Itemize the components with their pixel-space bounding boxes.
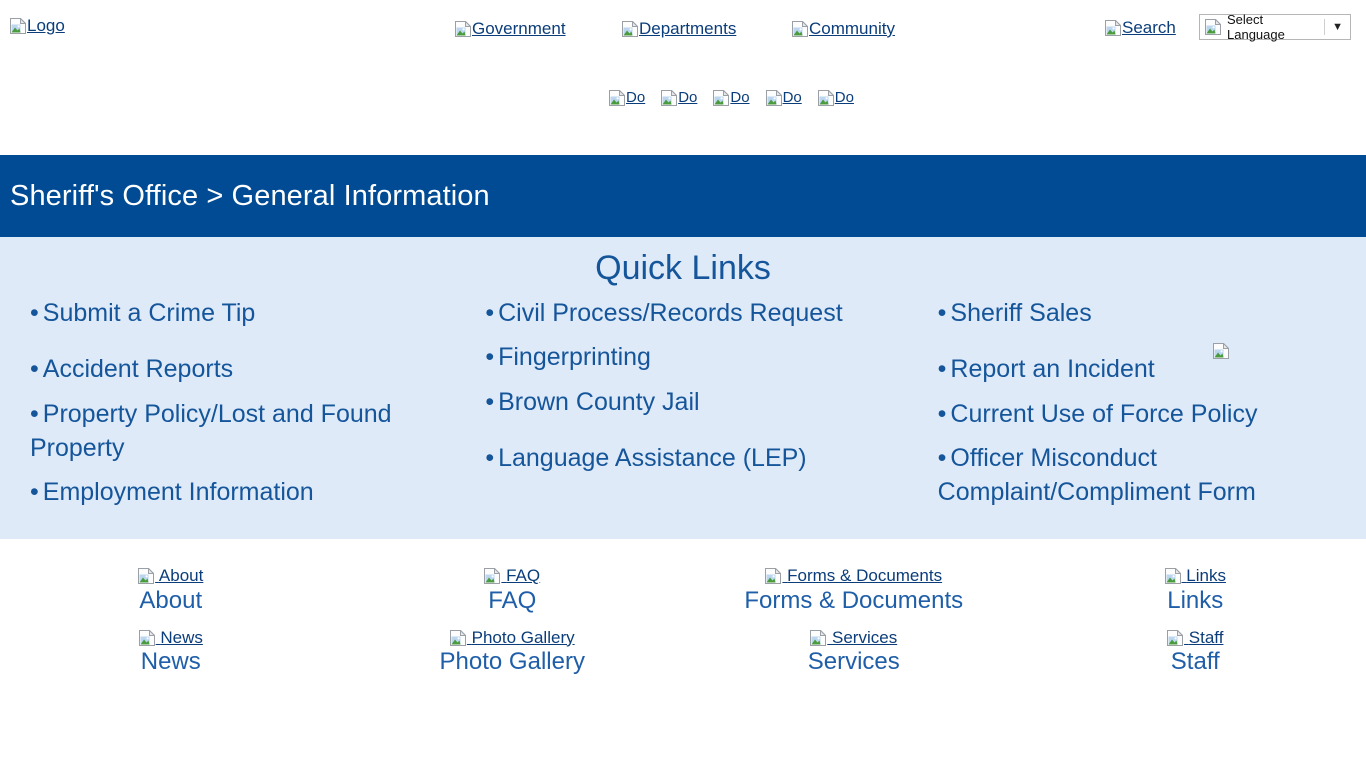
- page-title: Sheriff's Office > General Information: [0, 180, 490, 213]
- title-bar-broken-image-icon: [1213, 343, 1229, 359]
- secondary-icon-label: Do: [678, 89, 697, 106]
- quick-link-item[interactable]: •Property Policy/Lost and Found Property: [30, 397, 437, 466]
- chevron-down-icon[interactable]: ▼: [1332, 21, 1347, 33]
- broken-image-icon: [765, 568, 781, 584]
- secondary-icon-item-4[interactable]: Do: [766, 89, 802, 106]
- quick-link-label: Submit a Crime Tip: [43, 299, 256, 327]
- quick-link-item[interactable]: •Sheriff Sales: [938, 296, 1348, 330]
- quick-links-columns: •Submit a Crime Tip •Accident Reports •P…: [0, 296, 1366, 519]
- tile-alt-text: Services: [832, 628, 897, 647]
- quick-links-heading: Quick Links: [0, 249, 1366, 288]
- quick-link-label: Officer Misconduct Complaint/Compliment …: [938, 444, 1256, 506]
- quick-link-label: Property Policy/Lost and Found Property: [30, 400, 392, 462]
- bullet-icon: •: [30, 355, 39, 383]
- tile-caption: Services: [683, 648, 1025, 676]
- divider: [1324, 19, 1325, 35]
- bullet-icon: •: [485, 388, 494, 416]
- tile-caption: News: [0, 648, 342, 676]
- broken-image-icon: [818, 90, 834, 106]
- broken-image-icon: [661, 90, 677, 106]
- quick-links-column-3: •Sheriff Sales •Report an Incident •Curr…: [911, 296, 1366, 519]
- tile-alt-text: News: [160, 628, 203, 647]
- broken-image-icon: [766, 90, 782, 106]
- tile-photo-gallery[interactable]: Photo Gallery Photo Gallery: [342, 615, 684, 676]
- quick-link-item[interactable]: •Officer Misconduct Complaint/Compliment…: [938, 441, 1348, 510]
- secondary-icon-label: Do: [835, 89, 854, 106]
- search-link[interactable]: Search: [1105, 18, 1176, 38]
- quick-link-item[interactable]: •Fingerprinting: [485, 340, 892, 374]
- tile-caption: Links: [1025, 587, 1366, 615]
- quick-link-label: Report an Incident: [950, 355, 1154, 383]
- bullet-icon: •: [30, 478, 39, 506]
- secondary-icon-label: Do: [783, 89, 802, 106]
- bullet-icon: •: [30, 299, 39, 327]
- bullet-icon: •: [485, 444, 494, 472]
- quick-link-item[interactable]: •Accident Reports: [30, 352, 437, 386]
- tile-image-link[interactable]: Staff: [1025, 629, 1366, 648]
- broken-image-icon: [1167, 630, 1183, 646]
- tile-faq[interactable]: FAQ FAQ: [342, 553, 684, 614]
- quick-link-item[interactable]: •Report an Incident: [938, 352, 1348, 386]
- tile-image-link[interactable]: About: [0, 567, 342, 586]
- quick-link-item[interactable]: •Language Assistance (LEP): [485, 441, 892, 475]
- tile-caption: About: [0, 587, 342, 615]
- broken-image-icon: [609, 90, 625, 106]
- nav-item-departments[interactable]: Departments: [622, 19, 736, 39]
- broken-image-icon: [10, 18, 26, 34]
- tile-image-link[interactable]: FAQ: [342, 567, 684, 586]
- tile-image-link[interactable]: News: [0, 629, 342, 648]
- tile-about[interactable]: About About: [0, 553, 342, 614]
- broken-image-icon: [622, 21, 638, 37]
- broken-image-icon: [138, 568, 154, 584]
- tile-alt-text: Forms & Documents: [787, 566, 942, 585]
- language-selected-value: Select Language: [1227, 12, 1322, 42]
- tile-image-link[interactable]: Links: [1025, 567, 1366, 586]
- quick-link-label: Current Use of Force Policy: [950, 400, 1257, 428]
- secondary-icon-item-1[interactable]: Do: [609, 89, 645, 106]
- nav-item-label: Departments: [639, 19, 736, 39]
- bullet-icon: •: [938, 355, 947, 383]
- tile-row: About About FAQ FAQ: [0, 553, 1366, 614]
- quick-link-item[interactable]: •Current Use of Force Policy: [938, 397, 1348, 431]
- broken-image-icon: [713, 90, 729, 106]
- tile-services[interactable]: Services Services: [683, 615, 1025, 676]
- nav-item-label: Community: [809, 19, 895, 39]
- tile-grid: About About FAQ FAQ: [0, 539, 1366, 676]
- secondary-icon-row: Do Do: [609, 89, 854, 106]
- bullet-icon: •: [938, 444, 947, 472]
- quick-links-section: Quick Links •Submit a Crime Tip •Acciden…: [0, 237, 1366, 539]
- bullet-icon: •: [938, 400, 947, 428]
- secondary-icon-item-5[interactable]: Do: [818, 89, 854, 106]
- bullet-icon: •: [938, 299, 947, 327]
- tile-links[interactable]: Links Links: [1025, 553, 1366, 614]
- nav-item-label: Government: [472, 19, 566, 39]
- tile-caption: Forms & Documents: [683, 587, 1025, 615]
- broken-image-icon: [139, 630, 155, 646]
- tile-forms-documents[interactable]: Forms & Documents Forms & Documents: [683, 553, 1025, 614]
- tile-news[interactable]: News News: [0, 615, 342, 676]
- secondary-icon-label: Do: [730, 89, 749, 106]
- nav-item-government[interactable]: Government: [455, 19, 566, 39]
- quick-link-item[interactable]: •Civil Process/Records Request: [485, 296, 892, 330]
- tile-alt-text: FAQ: [506, 566, 540, 585]
- tile-alt-text: About: [159, 566, 203, 585]
- site-header: Logo Government: [0, 0, 1366, 155]
- quick-link-label: Brown County Jail: [498, 388, 699, 416]
- bullet-icon: •: [485, 343, 494, 371]
- tile-row: News News Photo Gallery Photo Gallery: [0, 615, 1366, 676]
- quick-link-item[interactable]: •Employment Information: [30, 475, 437, 509]
- quick-link-item[interactable]: •Submit a Crime Tip: [30, 296, 437, 330]
- tile-caption: Staff: [1025, 648, 1366, 676]
- broken-image-icon: [1165, 568, 1181, 584]
- tile-caption: Photo Gallery: [342, 648, 684, 676]
- quick-link-item[interactable]: •Brown County Jail: [485, 385, 892, 419]
- secondary-icon-label: Do: [626, 89, 645, 106]
- nav-item-community[interactable]: Community: [792, 19, 895, 39]
- tile-staff[interactable]: Staff Staff: [1025, 615, 1366, 676]
- tile-image-link[interactable]: Services: [683, 629, 1025, 648]
- tile-alt-text: Links: [1186, 566, 1226, 585]
- page-title-bar: Sheriff's Office > General Information: [0, 155, 1366, 237]
- tile-alt-text: Staff: [1189, 628, 1224, 647]
- quick-link-label: Accident Reports: [43, 355, 233, 383]
- broken-image-icon: [484, 568, 500, 584]
- language-selector[interactable]: Select Language ▼: [1199, 14, 1351, 40]
- bullet-icon: •: [30, 400, 39, 428]
- tile-image-link[interactable]: Forms & Documents: [683, 567, 1025, 586]
- search-icon: [1105, 20, 1121, 36]
- tile-alt-text: Photo Gallery: [472, 628, 575, 647]
- quick-link-label: Language Assistance (LEP): [498, 444, 807, 472]
- tile-caption: FAQ: [342, 587, 684, 615]
- quick-link-label: Civil Process/Records Request: [498, 299, 843, 327]
- secondary-icon-item-2[interactable]: Do: [661, 89, 697, 106]
- search-alt-text: Search: [1122, 18, 1176, 38]
- broken-image-icon: [792, 21, 808, 37]
- secondary-icon-item-3[interactable]: Do: [713, 89, 749, 106]
- site-logo-alt-text: Logo: [27, 16, 65, 36]
- quick-links-column-2: •Civil Process/Records Request •Fingerpr…: [455, 296, 910, 519]
- broken-image-icon: [450, 630, 466, 646]
- quick-link-label: Employment Information: [43, 478, 314, 506]
- broken-image-icon: [455, 21, 471, 37]
- translate-icon: [1205, 19, 1221, 35]
- quick-link-label: Fingerprinting: [498, 343, 651, 371]
- broken-image-icon: [810, 630, 826, 646]
- tile-image-link[interactable]: Photo Gallery: [342, 629, 684, 648]
- quick-links-column-1: •Submit a Crime Tip •Accident Reports •P…: [0, 296, 455, 519]
- bullet-icon: •: [485, 299, 494, 327]
- site-logo-link[interactable]: Logo: [10, 16, 65, 36]
- quick-link-label: Sheriff Sales: [950, 299, 1091, 327]
